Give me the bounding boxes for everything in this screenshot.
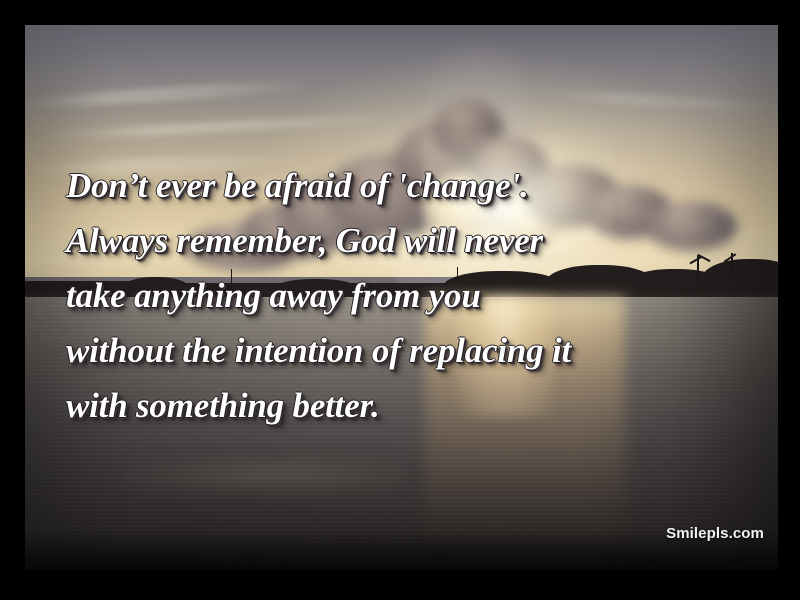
quote-line-1: Don’t ever be afraid of 'change'. xyxy=(66,158,766,213)
quote-line-4: without the intention of replacing it xyxy=(66,323,766,378)
quote-overlay: Don’t ever be afraid of 'change'. Always… xyxy=(66,158,766,433)
watermark-label: Smilepls.com xyxy=(666,525,764,542)
quote-line-5: with something better. xyxy=(66,378,766,433)
quote-line-2: Always remember, God will never xyxy=(66,213,766,268)
image-canvas: Smilepls.com Don’t ever be afraid of 'ch… xyxy=(0,0,800,600)
quote-line-3: take anything away from you xyxy=(66,268,766,323)
